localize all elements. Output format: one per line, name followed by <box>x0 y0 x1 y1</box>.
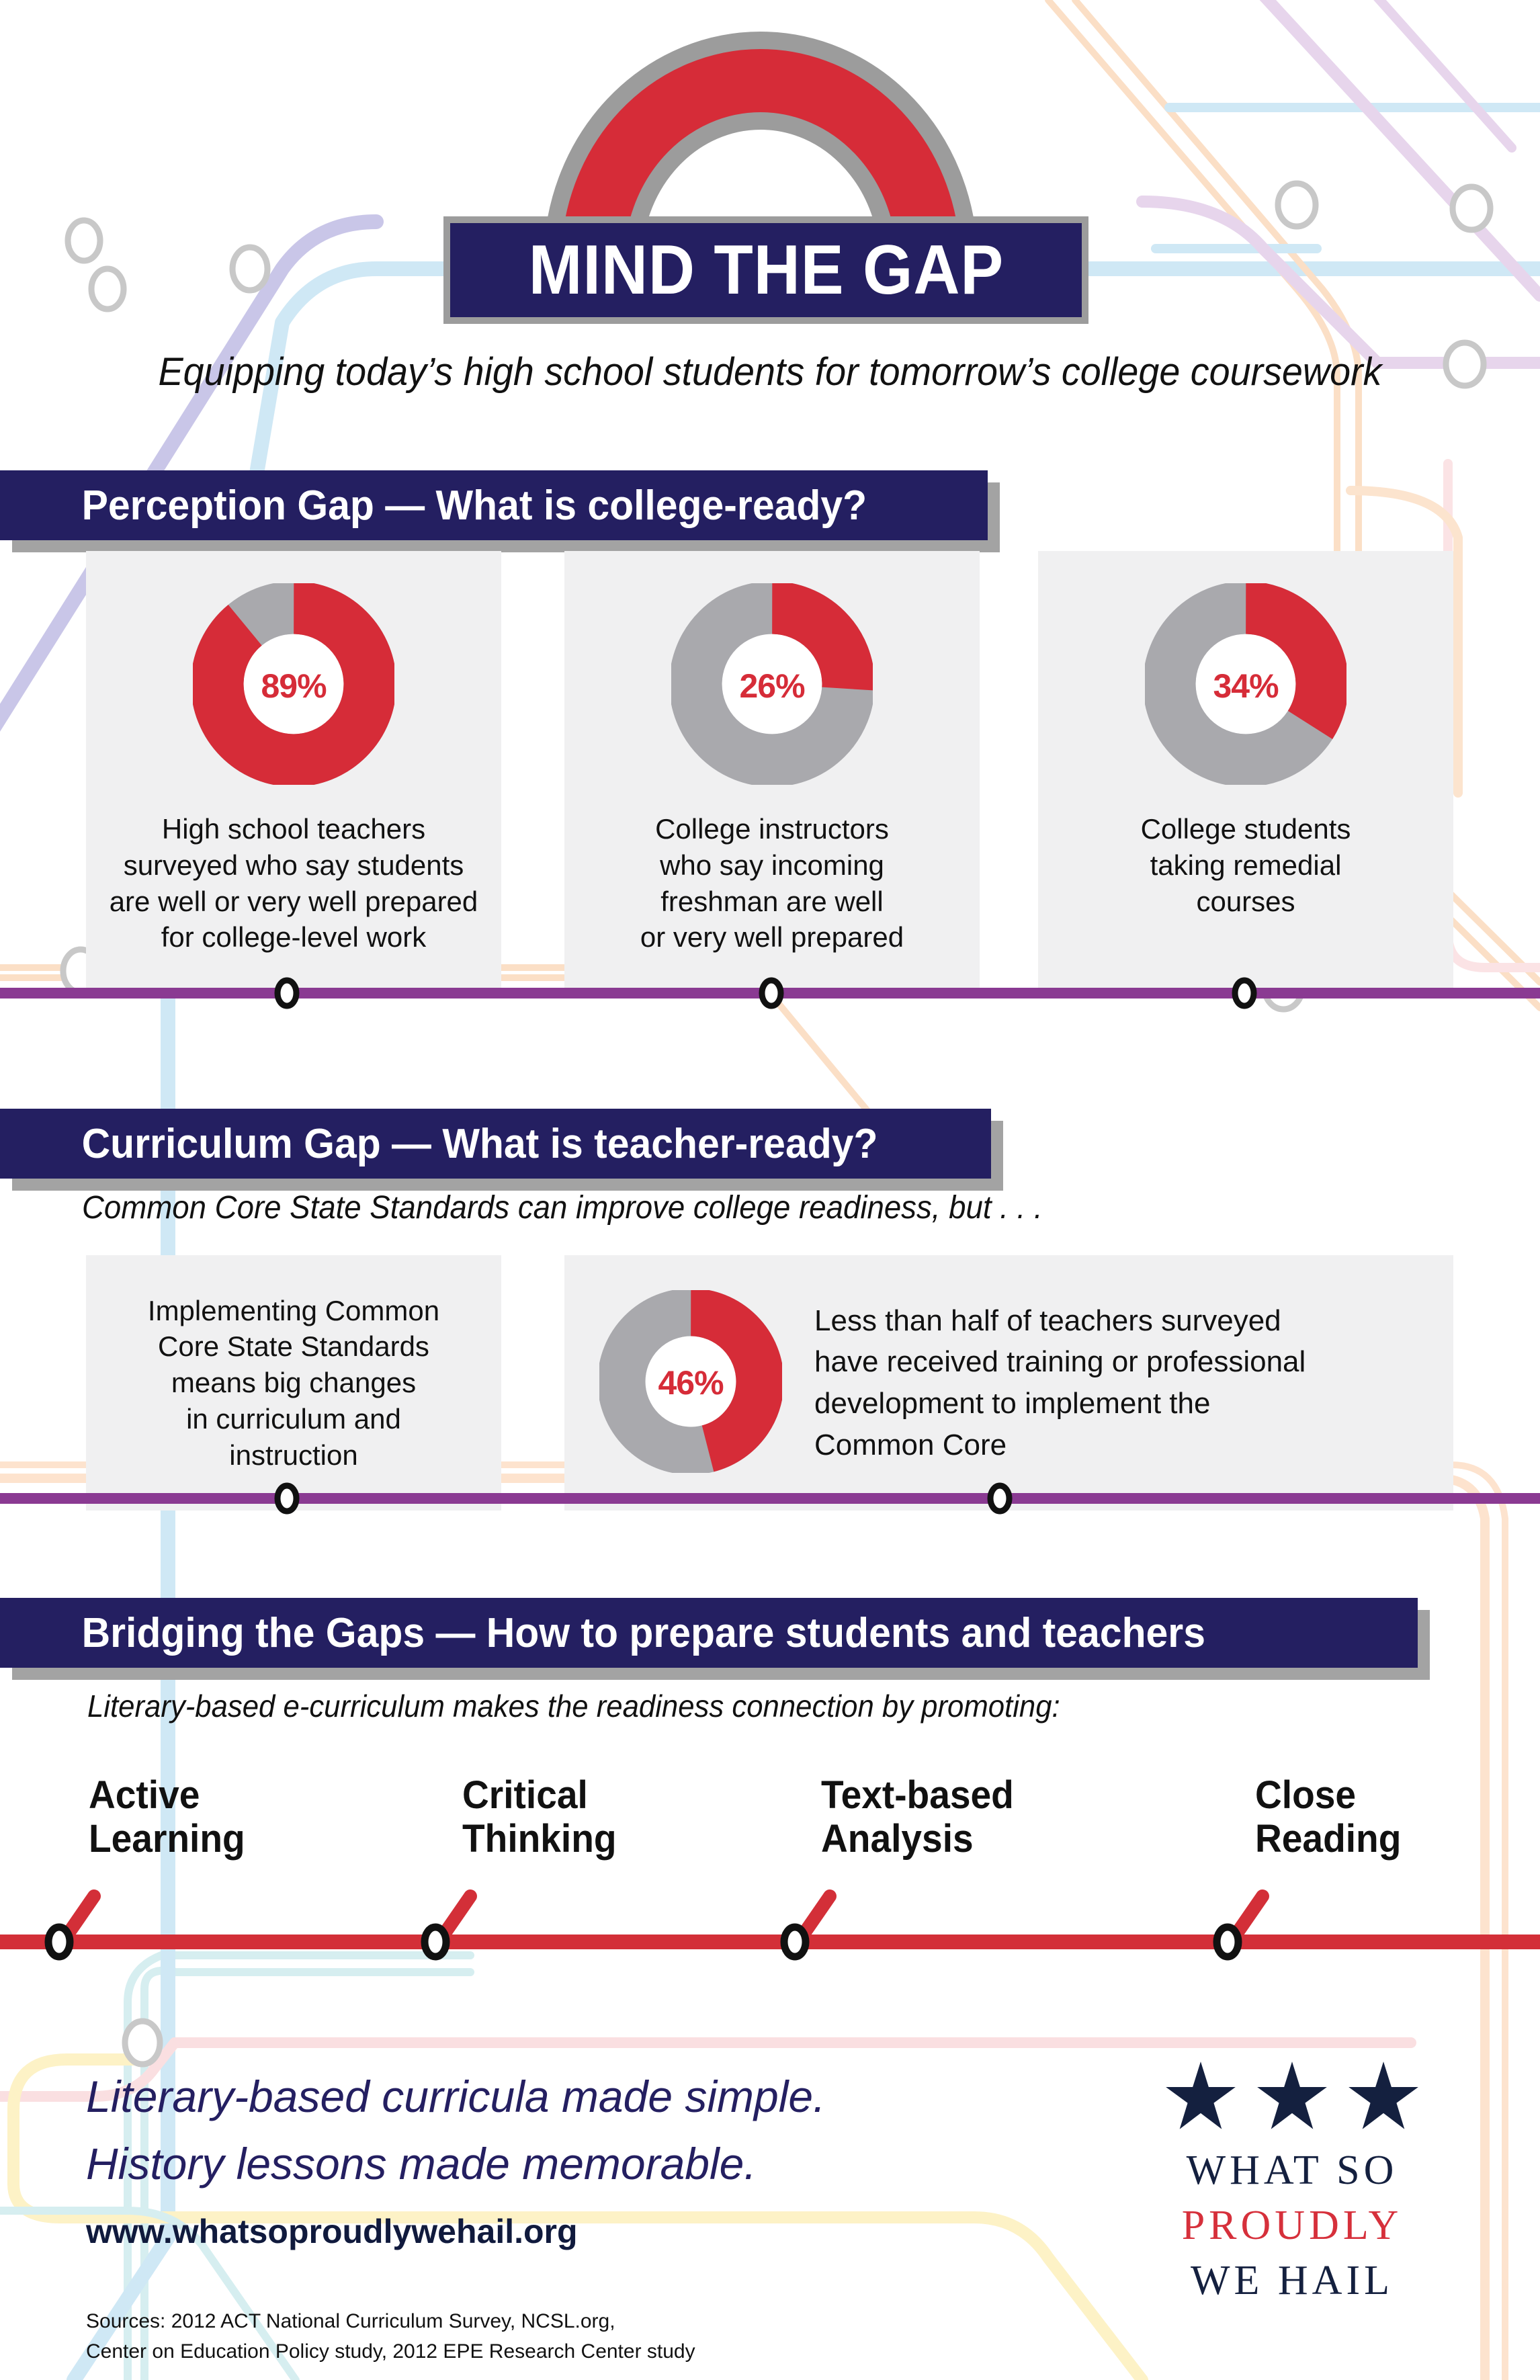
donut-center-label: 46% <box>599 1290 782 1476</box>
brand-stars <box>1134 2062 1450 2131</box>
pillar-line2: Thinking <box>462 1818 617 1861</box>
donut-chart-46: 46% <box>599 1290 782 1476</box>
text-panel-implementing: Implementing Common Core State Standards… <box>86 1255 501 1511</box>
section-header-bar: Perception Gap — What is college-ready? <box>0 470 988 540</box>
section-header-curriculum: Curriculum Gap — What is teacher-ready? <box>0 1109 991 1179</box>
stat-panel-caption: High school teachers surveyed who say st… <box>100 811 488 955</box>
station-marker-icon <box>762 980 781 1006</box>
pillar-line2: Reading <box>1255 1818 1401 1861</box>
section-header-bridging: Bridging the Gaps — How to prepare stude… <box>0 1598 1418 1668</box>
pillar-close-reading: Close Reading <box>1255 1774 1401 1861</box>
station-marker-icon <box>277 980 296 1006</box>
bridging-lede: Literary-based e-curriculum makes the re… <box>87 1688 1060 1724</box>
pillar-text-based-analysis: Text-based Analysis <box>821 1774 1014 1861</box>
brand-line-what-so: WHAT SO <box>1134 2143 1450 2199</box>
star-icon <box>1347 2062 1420 2131</box>
stat-panel-teachers: 89% High school teachers surveyed who sa… <box>86 551 501 988</box>
donut-chart-34: 34% <box>1145 583 1346 788</box>
pillar-line1: Active <box>89 1774 245 1818</box>
station-marker-icon <box>1217 1927 1238 1957</box>
stat-panel-instructors: 26% College instructors who say incoming… <box>564 551 980 988</box>
page-title: MIND THE GAP <box>528 235 1003 305</box>
donut-chart-26: 26% <box>671 583 873 788</box>
section-header-label: Perception Gap — What is college-ready? <box>0 482 867 529</box>
stat-panel-caption: College students taking remedial courses <box>1131 811 1361 919</box>
station-marker-icon <box>1235 980 1254 1006</box>
section-header-perception: Perception Gap — What is college-ready? <box>0 470 988 540</box>
section-header-bar: Bridging the Gaps — How to prepare stude… <box>0 1598 1418 1668</box>
pillar-line1: Critical <box>462 1774 617 1818</box>
star-icon <box>1164 2062 1237 2131</box>
pillar-critical-thinking: Critical Thinking <box>462 1774 617 1861</box>
tagline-line1: Literary-based curricula made simple. <box>86 2071 825 2122</box>
section-header-label: Bridging the Gaps — How to prepare stude… <box>0 1609 1205 1657</box>
bg-station-icon <box>125 2021 160 2064</box>
connector-line-purple-2 <box>0 1478 1540 1519</box>
text-panel-body: Implementing Common Core State Standards… <box>138 1293 449 1474</box>
station-marker-icon <box>784 1927 806 1957</box>
sources-line2: Center on Education Policy study, 2012 E… <box>86 2336 695 2367</box>
section-header-bar: Curriculum Gap — What is teacher-ready? <box>0 1109 991 1179</box>
pillar-line1: Text-based <box>821 1774 1014 1818</box>
pillar-line2: Analysis <box>821 1818 1014 1861</box>
stat-panel-caption: College instructors who say incoming fre… <box>631 811 913 955</box>
footer-url-link[interactable]: www.whatsoproudlywehail.org <box>86 2212 578 2251</box>
brand-logo[interactable]: WHAT SO PROUDLY WE HAIL <box>1134 2062 1450 2308</box>
pillar-line2: Learning <box>89 1818 245 1861</box>
stat-panel-remedial: 34% College students taking remedial cou… <box>1038 551 1453 988</box>
tagline-line2: History lessons made memorable. <box>86 2138 757 2189</box>
sources-line1: Sources: 2012 ACT National Curriculum Su… <box>86 2306 695 2336</box>
sources-note: Sources: 2012 ACT National Curriculum Su… <box>86 2306 695 2367</box>
donut-center-label: 34% <box>1145 583 1346 788</box>
connector-line-red <box>0 1881 1540 1989</box>
curriculum-lede: Common Core State Standards can improve … <box>82 1189 1043 1226</box>
star-icon <box>1256 2062 1328 2131</box>
station-marker-icon <box>990 1486 1009 1511</box>
donut-center-label: 89% <box>193 583 394 788</box>
pillar-line1: Close <box>1255 1774 1401 1818</box>
station-marker-icon <box>48 1927 70 1957</box>
donut-chart-89: 89% <box>193 583 394 788</box>
brand-line-proudly: PROUDLY <box>1134 2199 1450 2254</box>
masthead: MIND THE GAP Equipping today’s high scho… <box>0 0 1540 443</box>
page-subtitle: Equipping today’s high school students f… <box>31 349 1509 394</box>
station-marker-icon <box>277 1486 296 1511</box>
stat-panel-training: 46% Less than half of teachers surveyed … <box>564 1255 1453 1511</box>
connector-line-purple-1 <box>0 973 1540 1013</box>
training-caption: Less than half of teachers surveyed have… <box>814 1300 1325 1465</box>
station-marker-icon <box>425 1927 446 1957</box>
brand-line-we-hail: WE HAIL <box>1134 2254 1450 2309</box>
donut-center-label: 26% <box>671 583 873 788</box>
pillar-active-learning: Active Learning <box>89 1774 245 1861</box>
section-header-label: Curriculum Gap — What is teacher-ready? <box>0 1120 878 1168</box>
title-plate: MIND THE GAP <box>443 216 1088 324</box>
